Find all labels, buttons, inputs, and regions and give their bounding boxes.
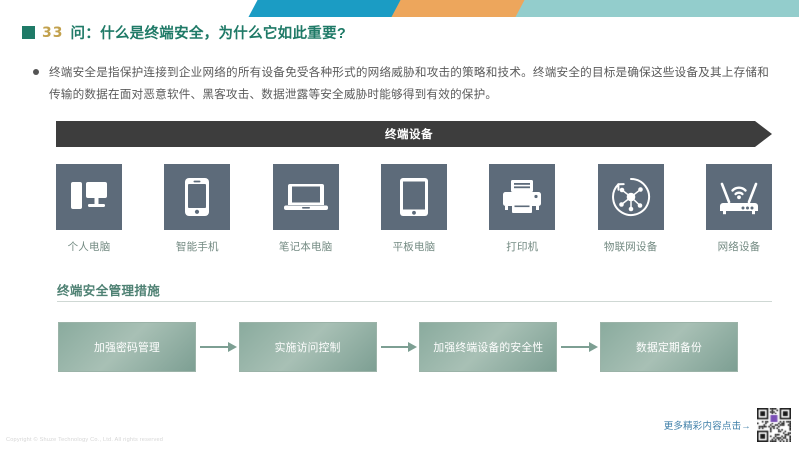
device-icon-box [164,164,230,230]
device-item-iot: 物联网设备 [598,164,664,254]
device-item-tablet: 平板电脑 [381,164,447,254]
device-item-pc: 个人电脑 [56,164,122,254]
device-icon-box [56,164,122,230]
device-label: 智能手机 [176,239,219,254]
measures-divider [57,301,772,302]
device-icon-box [381,164,447,230]
title-square-bullet-icon [22,26,35,39]
device-icon-box [598,164,664,230]
more-content-cta[interactable]: 更多精彩内容点击→ [664,408,791,442]
flow-arrow-3-icon [559,342,598,352]
device-item-printer: 打印机 [489,164,555,254]
flow-arrow-2-icon [379,342,418,352]
flow-step-label: 数据定期备份 [636,339,702,355]
device-label: 平板电脑 [393,239,436,254]
flow-step-4[interactable]: 数据定期备份 [600,322,738,372]
device-icon-box [706,164,772,230]
title-number: 33 [42,25,63,41]
device-icon-box [273,164,339,230]
desktop-computer-icon [69,180,109,214]
measures-heading: 终端安全管理措施 [57,280,160,299]
laptop-icon [284,181,328,213]
flow-step-2[interactable]: 实施访问控制 [239,322,377,372]
endpoint-devices-banner: 终端设备 [56,121,772,147]
device-label: 网络设备 [718,239,761,254]
iot-network-icon [610,176,652,218]
device-item-laptop: 笔记本电脑 [273,164,339,254]
page-title: 33 问：什么是终端安全，为什么它如此重要? [22,22,346,43]
endpoint-devices-banner-label: 终端设备 [385,126,433,142]
device-icon-box [489,164,555,230]
device-label: 个人电脑 [68,239,111,254]
device-item-smartphone: 智能手机 [164,164,230,254]
measures-flow: 加强密码管理 实施访问控制 加强终端设备的安全性 数据定期备份 [58,322,738,372]
copyright-text: Copyright © Shuze Technology Co., Ltd. A… [6,437,163,443]
qr-code[interactable] [757,408,791,442]
intro-paragraph: 终端安全是指保护连接到企业网络的所有设备免受各种形式的网络威胁和攻击的策略和技术… [33,62,773,106]
more-content-label: 更多精彩内容点击→ [664,418,751,432]
flow-step-1[interactable]: 加强密码管理 [58,322,196,372]
device-label: 打印机 [506,239,538,254]
slide-root: 33 问：什么是终端安全，为什么它如此重要? 终端安全是指保护连接到企业网络的所… [0,0,799,450]
banner-band-blue [248,0,407,17]
smartphone-icon [184,177,210,217]
banner-band-orange [391,0,531,17]
tablet-icon [399,177,429,217]
paragraph-text: 终端安全是指保护连接到企业网络的所有设备免受各种形式的网络威胁和攻击的策略和技术… [49,62,769,106]
paragraph-bullet-icon [33,69,39,75]
router-wifi-icon [716,178,762,216]
device-label: 笔记本电脑 [279,239,333,254]
flow-step-label: 加强密码管理 [94,339,160,355]
flow-arrow-1-icon [198,342,237,352]
flow-step-3[interactable]: 加强终端设备的安全性 [419,322,557,372]
title-text: 问：什么是终端安全，为什么它如此重要? [70,22,346,43]
flow-step-label: 加强终端设备的安全性 [433,339,543,355]
device-item-network: 网络设备 [706,164,772,254]
device-label: 物联网设备 [604,239,658,254]
top-decorative-banner [0,0,799,17]
banner-band-teal [515,0,799,17]
flow-step-label: 实施访问控制 [275,339,341,355]
device-icon-row: 个人电脑 智能手机 笔记本电 [56,164,772,254]
printer-icon [501,179,543,215]
